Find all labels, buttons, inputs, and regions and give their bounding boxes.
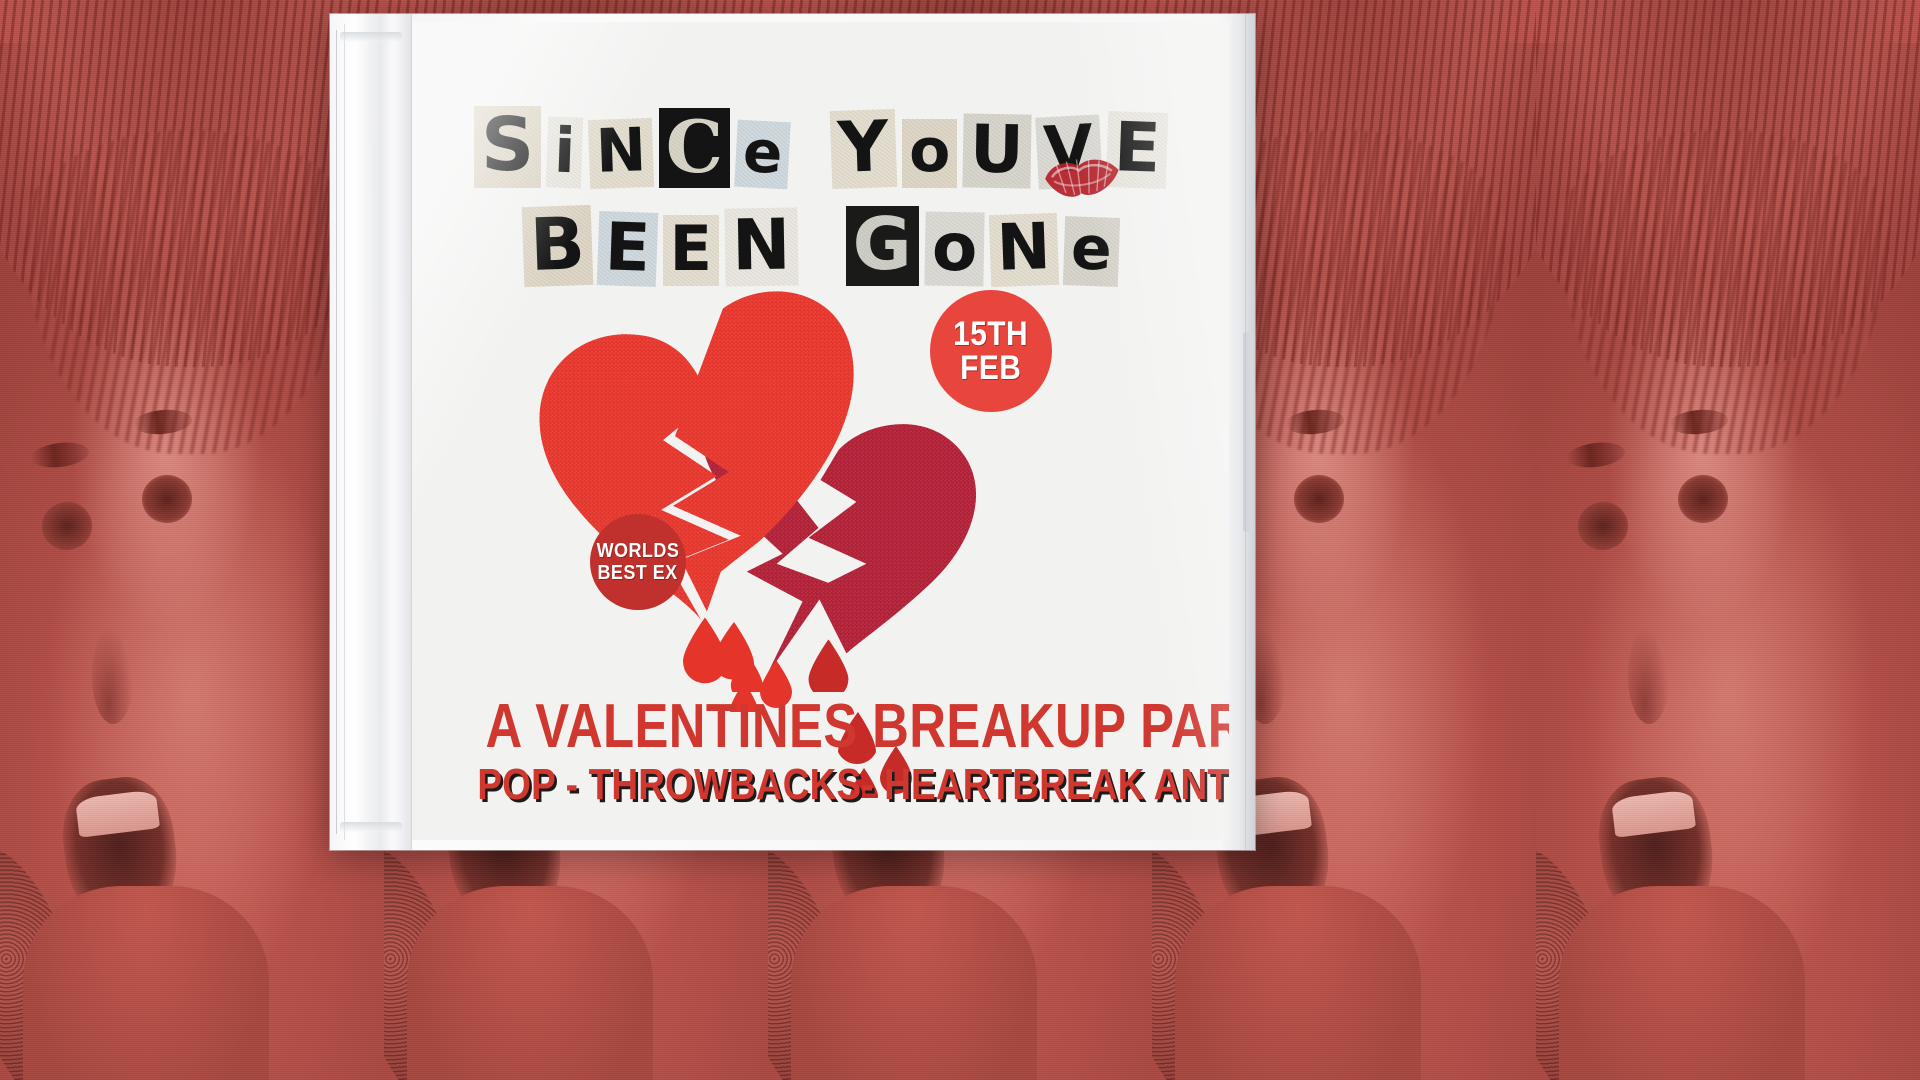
bottom-text-block: A VALENTINES BREAKUP PARTY POP - THROWBA… bbox=[412, 695, 1229, 810]
singer-photo-icon bbox=[1536, 0, 1920, 1080]
date-badge-line-1: 15TH bbox=[954, 317, 1029, 351]
ransom-letter: N bbox=[587, 118, 654, 189]
ransom-letter: S bbox=[474, 106, 541, 188]
date-badge[interactable]: 15TH FEB bbox=[930, 290, 1052, 412]
worlds-best-ex-badge[interactable]: WORLDS BEST EX bbox=[590, 514, 686, 610]
ransom-letter: U bbox=[963, 113, 1032, 189]
jewel-case-notch bbox=[1243, 332, 1253, 533]
ransom-letter: Y bbox=[830, 109, 897, 189]
event-subline: POP - THROWBACKS- HEARTBREAK ANTHEMS bbox=[477, 760, 1163, 810]
ransom-letter: i bbox=[546, 117, 584, 189]
background-tile bbox=[0, 0, 384, 1080]
singer-photo-icon bbox=[0, 0, 384, 1080]
background-tile bbox=[1536, 0, 1920, 1080]
broken-hearts-graphic bbox=[412, 272, 1229, 692]
ransom-letter: C bbox=[659, 108, 730, 188]
date-badge-line-2: FEB bbox=[960, 351, 1021, 385]
ex-badge-line-2: BEST EX bbox=[598, 562, 678, 584]
jewel-case-hinge-bottom bbox=[340, 822, 402, 832]
jewel-case-spine bbox=[330, 14, 412, 850]
blood-drips-back bbox=[809, 639, 849, 692]
lips-kiss-icon bbox=[1037, 143, 1129, 209]
cd-jewel-case: S i N C e Y o U V E B E E N G o N bbox=[330, 14, 1255, 850]
ransom-letter: o bbox=[902, 119, 957, 188]
jewel-case-hinge-top bbox=[340, 32, 402, 42]
album-cover-artwork: S i N C e Y o U V E B E E N G o N bbox=[412, 22, 1229, 840]
event-headline: A VALENTINES BREAKUP PARTY bbox=[486, 695, 1156, 758]
ex-badge-line-1: WORLDS bbox=[597, 540, 680, 562]
heart-front bbox=[539, 291, 853, 619]
ransom-letter: e bbox=[734, 120, 791, 189]
